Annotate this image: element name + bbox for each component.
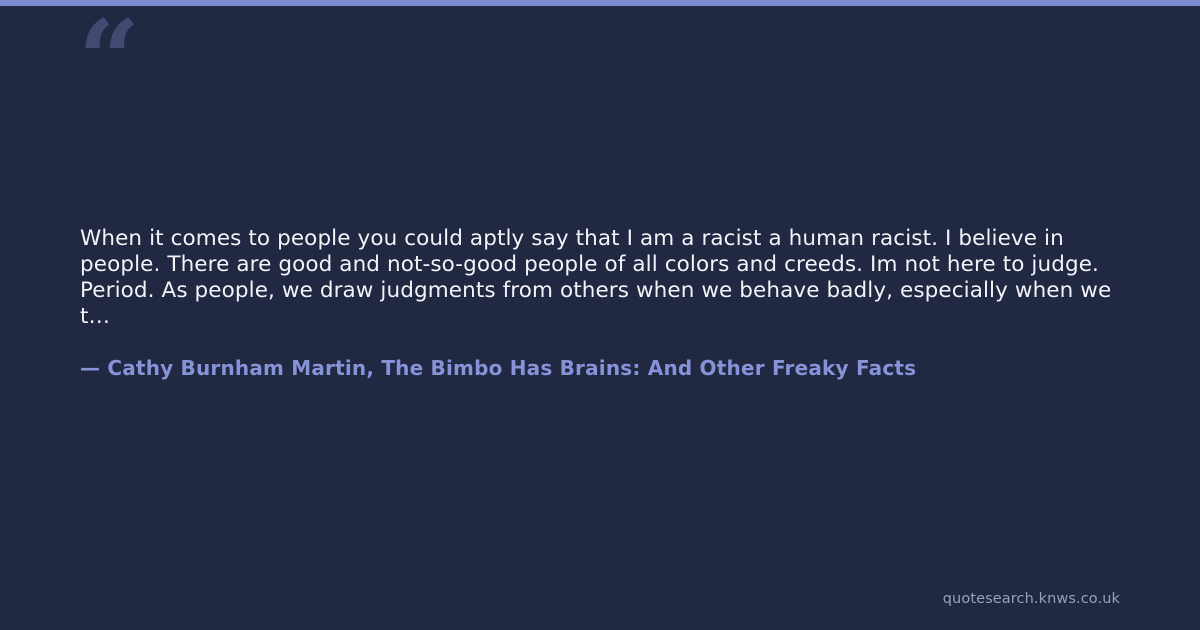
quote-attribution: — Cathy Burnham Martin, The Bimbo Has Br… <box>80 355 1120 381</box>
quote-card: “ When it comes to people you could aptl… <box>0 0 1200 630</box>
open-quote-icon: “ <box>78 6 138 114</box>
quote-text: When it comes to people you could aptly … <box>80 226 1120 330</box>
source-url-label: quotesearch.knws.co.uk <box>943 590 1120 608</box>
top-accent-bar <box>0 0 1200 6</box>
